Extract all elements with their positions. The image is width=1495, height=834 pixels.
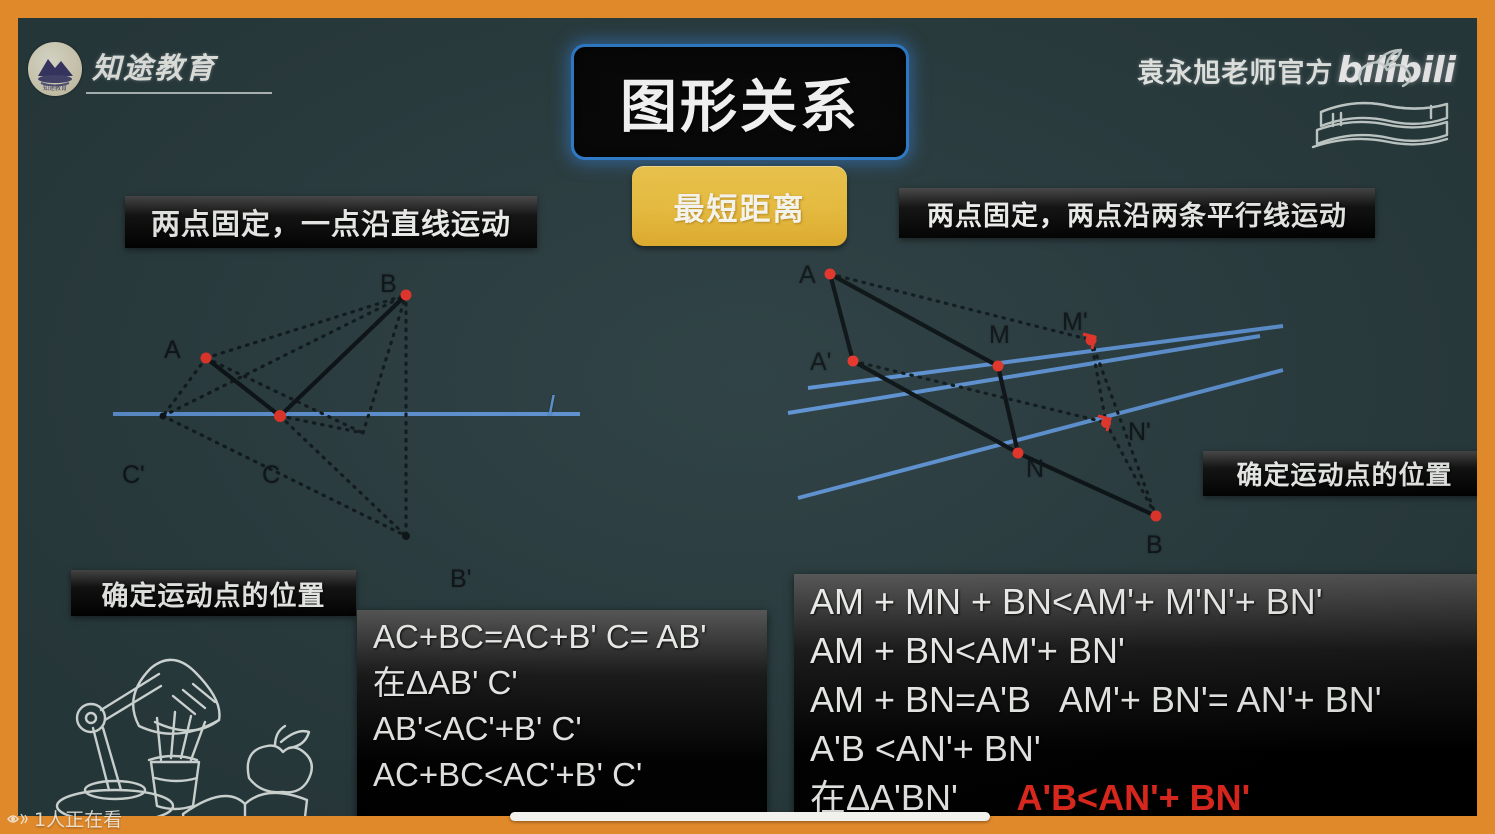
formula-box-left: AC+BC=AC+B' C= AB'在ΔAB' C'AB'<AC'+B' C'A…: [357, 610, 767, 816]
banner-right-condition: 两点固定，两点沿两条平行线运动: [899, 188, 1375, 238]
formula-right-line-2-text: AM + BN<AM'+ BN': [810, 630, 1125, 671]
formula-right-line-2: AM + BN<AM'+ BN': [810, 633, 1477, 669]
chalkboard-slide: 知途教育 知途教育 袁永旭老师官方 bilibili: [18, 18, 1477, 816]
formula-right-line-3: AM + BN=A'B AM'+ BN'= AN'+ BN': [810, 682, 1477, 718]
viewer-count: 1人正在看: [6, 805, 122, 832]
subtitle-pill-label: 最短距离: [674, 184, 806, 229]
point-C: [274, 410, 286, 422]
formula-right-line-5-highlight: A'B<AN'+ BN': [958, 777, 1250, 816]
banner-right-text: 两点固定，两点沿两条平行线运动: [927, 194, 1347, 233]
formula-right-line-1-text: AM + MN + BN<AM'+ M'N'+ BN': [810, 581, 1323, 622]
desk-lamp-chalk-art: [43, 638, 343, 816]
formula-right-line-4-text: A'B <AN'+ BN': [810, 728, 1041, 769]
geometry-diagram-left: [18, 18, 638, 618]
video-progress-bar[interactable]: [510, 812, 990, 821]
point-A: [825, 269, 836, 280]
formula-left-line-1: AC+BC=AC+B' C= AB': [373, 620, 751, 653]
point-A-prime: [848, 356, 859, 367]
formula-right-line-4: A'B <AN'+ BN': [810, 731, 1477, 767]
page-title: 图形关系: [620, 61, 860, 143]
video-player-frame: 知途教育 知途教育 袁永旭老师官方 bilibili: [0, 0, 1495, 834]
viewer-count-text: 1人正在看: [34, 805, 122, 832]
eye-viewers-icon: [6, 811, 28, 827]
formula-left-line-3: AB'<AC'+B' C': [373, 712, 751, 745]
point-N-prime: [1101, 418, 1111, 428]
formula-right-line-1: AM + MN + BN<AM'+ M'N'+ BN': [810, 584, 1477, 620]
geometry-diagram-right: [778, 248, 1318, 578]
formula-box-right: AM + MN + BN<AM'+ M'N'+ BN'AM + BN<AM'+ …: [794, 574, 1477, 816]
formula-right-line-5-text: 在ΔA'BN': [810, 777, 958, 816]
subtitle-pill-button[interactable]: 最短距离: [632, 166, 847, 246]
point-M-prime: [1086, 335, 1097, 346]
formula-left-line-2: 在ΔAB' C': [373, 666, 751, 699]
point-B-prime: [402, 532, 410, 540]
point-C-prime: [160, 413, 167, 420]
formula-left-line-4: AC+BC<AC'+B' C': [373, 758, 751, 791]
books-apple-chalk-art: [1291, 44, 1471, 154]
point-N: [1013, 448, 1024, 459]
point-B: [401, 290, 412, 301]
formula-right-line-3-text: AM + BN=A'B AM'+ BN'= AN'+ BN': [810, 679, 1382, 720]
point-M: [993, 361, 1004, 372]
formula-right-line-5: 在ΔA'BN' A'B<AN'+ BN': [810, 780, 1477, 816]
point-A: [201, 353, 212, 364]
point-B: [1151, 511, 1162, 522]
